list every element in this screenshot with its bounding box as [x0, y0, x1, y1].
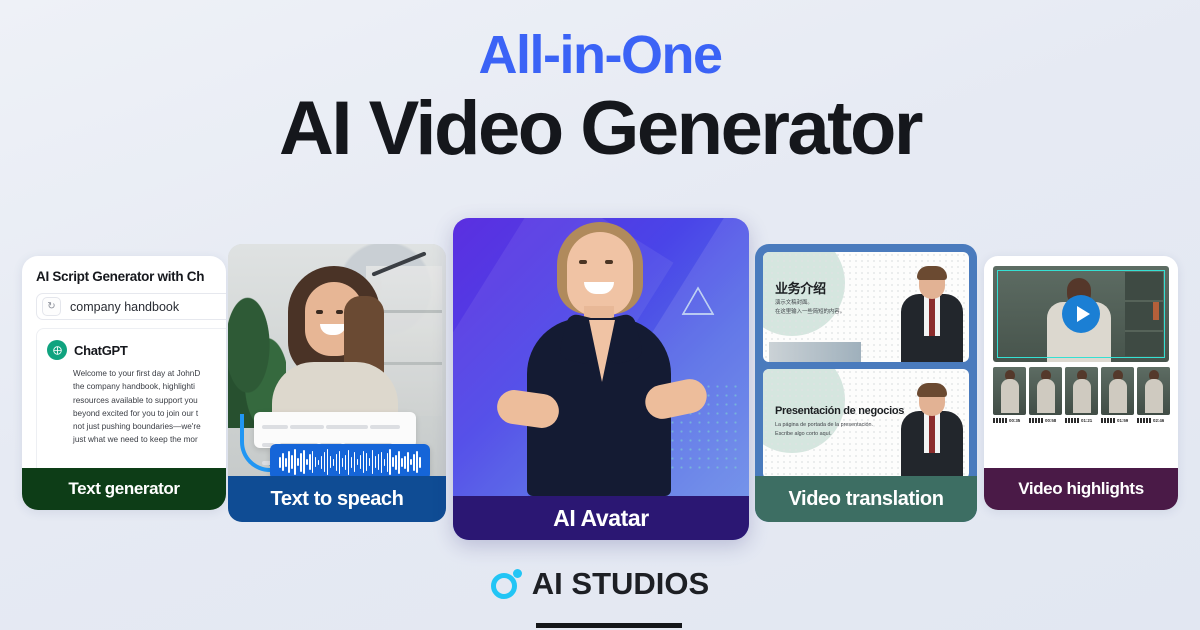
script-generator-heading: AI Script Generator with Ch: [36, 269, 226, 284]
thumbnail-strip: 00:35 00:58 01:21 01:59 02:46: [993, 367, 1169, 423]
translation-slide-es: Presentación de negocios La página de po…: [763, 369, 969, 479]
thumbnail-timestamp: 00:35: [1009, 418, 1020, 423]
ai-studios-circle-dot-logo: [491, 569, 522, 600]
text-lines-card: [254, 412, 416, 448]
brand-logo: AI STUDIOS: [0, 566, 1200, 602]
avatar-figure: [501, 222, 701, 492]
card-video-translation[interactable]: 业务介绍 演示文稿封面。 在这里输入一些简短的内容。 Presentación …: [755, 244, 977, 522]
thumbnail-timestamp: 02:46: [1153, 418, 1164, 423]
thumbnail-item[interactable]: 01:59: [1101, 367, 1134, 423]
video-player[interactable]: [993, 266, 1169, 362]
chatgpt-logo-icon: [47, 340, 67, 360]
slide-heading: 业务介绍: [775, 278, 826, 297]
thumbnail-item[interactable]: 00:58: [1029, 367, 1062, 423]
feature-card-row: AI Script Generator with Ch ↻ company ha…: [0, 218, 1200, 553]
topic-input-value: company handbook: [70, 300, 179, 314]
page-title: All-in-One AI Video Generator: [0, 28, 1200, 170]
assistant-name: ChatGPT: [74, 343, 128, 358]
slide-body: La página de portada de la presentación.…: [775, 421, 873, 440]
refresh-icon[interactable]: ↻: [42, 297, 61, 316]
thumbnail-timestamp: 01:59: [1117, 418, 1128, 423]
slide-heading: Presentación de negocios: [775, 405, 904, 417]
card-video-highlights[interactable]: 00:35 00:58 01:21 01:59 02:46 Video high…: [984, 256, 1178, 510]
brand-name: AI STUDIOS: [532, 566, 709, 602]
thumbnail-item[interactable]: 02:46: [1137, 367, 1170, 423]
assistant-response-text: Welcome to your first day at JohnD the c…: [73, 367, 226, 447]
topic-input[interactable]: ↻ company handbook: [36, 293, 226, 320]
thumbnail-timestamp: 01:21: [1081, 418, 1092, 423]
card-label-text-generator: Text generator: [22, 468, 226, 510]
thumbnail-timestamp: 00:58: [1045, 418, 1056, 423]
audio-waveform: [270, 444, 430, 480]
assistant-header: ChatGPT: [47, 340, 226, 360]
translation-slide-zh: 业务介绍 演示文稿封面。 在这里输入一些简短的内容。: [763, 252, 969, 362]
presenter-figure: [901, 266, 963, 362]
slide-photo-decor: [769, 342, 861, 362]
card-text-to-speech[interactable]: Text to speach: [228, 244, 446, 522]
thumbnail-item[interactable]: 01:21: [1065, 367, 1098, 423]
play-button-icon[interactable]: [1062, 295, 1100, 333]
card-label-text-to-speech: Text to speach: [228, 476, 446, 522]
bottom-accent-bar: [536, 623, 682, 628]
card-label-video-highlights: Video highlights: [984, 468, 1178, 510]
card-label-video-translation: Video translation: [755, 476, 977, 522]
card-ai-avatar[interactable]: AI Avatar: [453, 218, 749, 540]
card-label-ai-avatar: AI Avatar: [453, 496, 749, 540]
presenter-figure: [901, 383, 963, 479]
thumbnail-item[interactable]: 00:35: [993, 367, 1026, 423]
card-text-generator[interactable]: AI Script Generator with Ch ↻ company ha…: [22, 256, 226, 510]
text-generator-screenshot: AI Script Generator with Ch ↻ company ha…: [22, 256, 226, 496]
slide-body: 演示文稿封面。 在这里输入一些简短的内容。: [775, 299, 845, 318]
title-heading: AI Video Generator: [0, 88, 1200, 170]
title-eyebrow: All-in-One: [0, 28, 1200, 82]
